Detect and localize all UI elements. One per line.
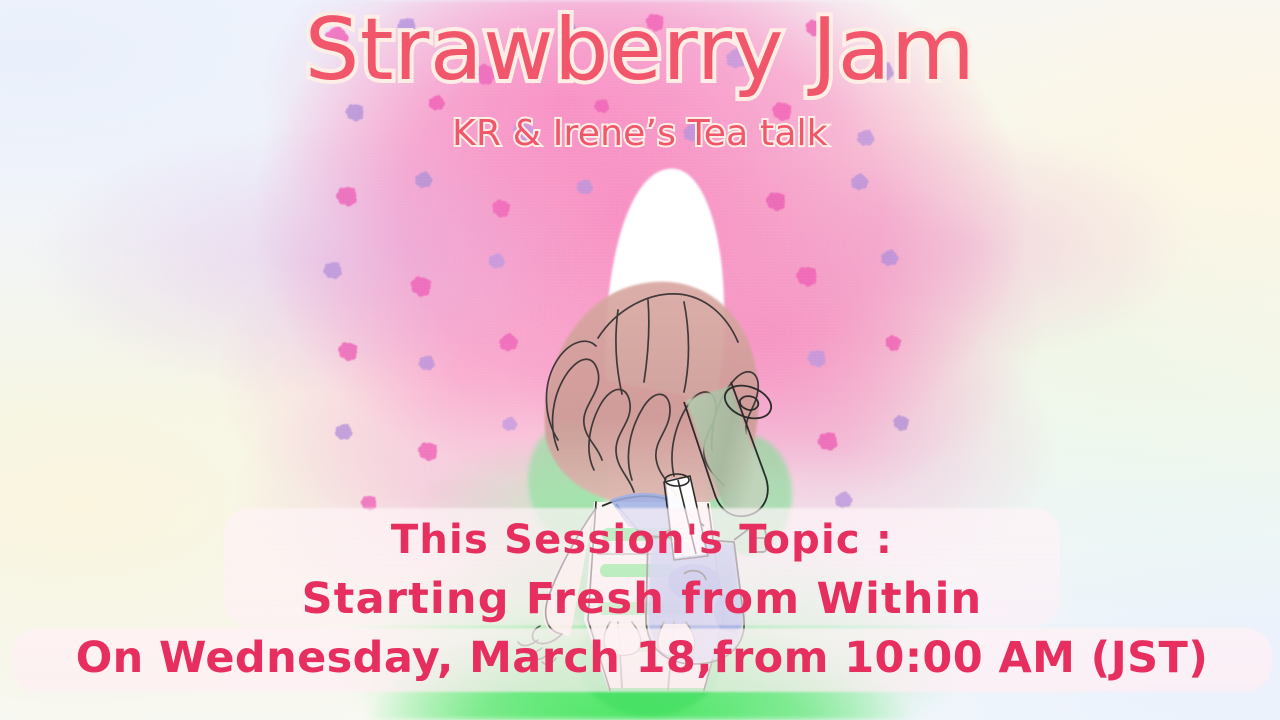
session-datetime: On Wednesday, March 18,from 10:00 AM (JS… (12, 632, 1272, 686)
page-subtitle: KR & Irene’s Tea talk (0, 114, 1280, 154)
topic-headline: Starting Fresh from Within (224, 569, 1060, 630)
poster-canvas: Strawberry Jam KR & Irene’s Tea talk Thi… (0, 0, 1280, 720)
session-topic-block: This Session's Topic : Starting Fresh fr… (224, 512, 1060, 630)
topic-label: This Session's Topic : (224, 512, 1060, 569)
page-title: Strawberry Jam (0, 4, 1280, 97)
